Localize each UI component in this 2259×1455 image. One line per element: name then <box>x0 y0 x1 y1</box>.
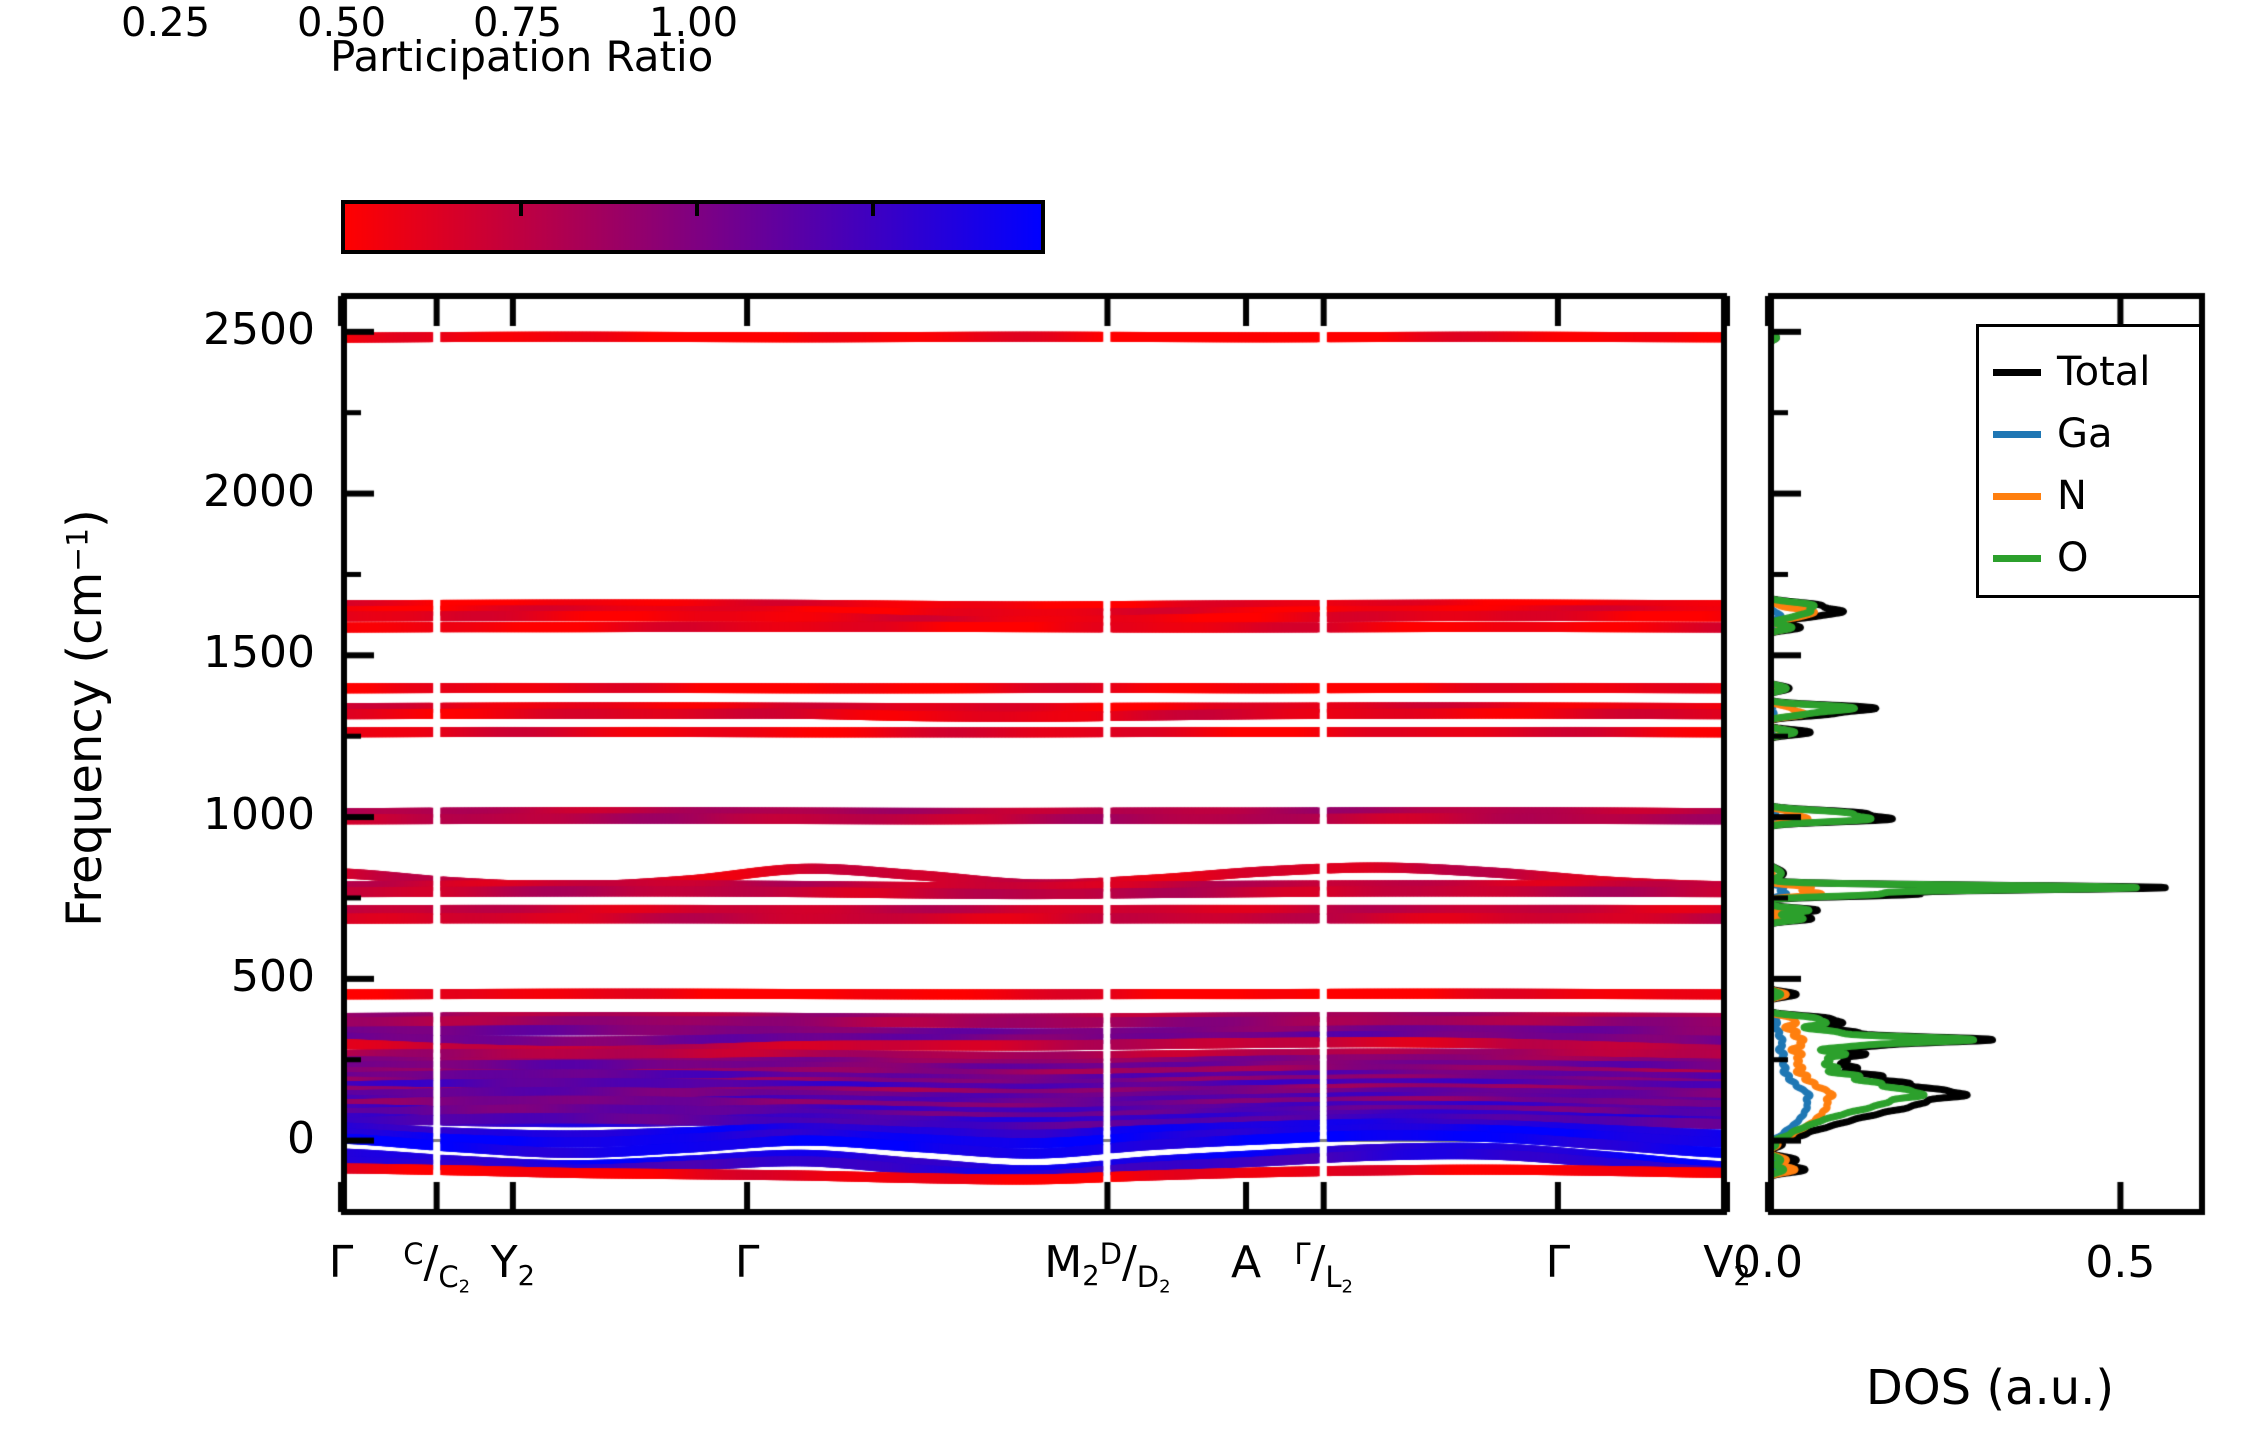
x-tick-2: Y2 <box>398 1237 628 1292</box>
legend-label-ga: Ga <box>2057 414 2113 454</box>
dos-tick-0-5: 0.5 <box>2030 1237 2210 1288</box>
colorbar-tick-0-25: 0.25 <box>121 0 210 46</box>
colorbar-tick-0-50: 0.50 <box>297 0 386 46</box>
colorbar-tick-mark <box>871 204 875 216</box>
legend-item-n: N <box>1979 465 2199 527</box>
participation-ratio-colorbar <box>341 200 1045 254</box>
legend-swatch-n <box>1993 493 2041 500</box>
legend-item-ga: Ga <box>1979 403 2199 465</box>
dos-x-axis-label: DOS (a.u.) <box>1770 1360 2210 1416</box>
legend-item-total: Total <box>1979 341 2199 403</box>
y-tick-1000: 1000 <box>85 789 315 840</box>
colorbar-tick-mark <box>695 204 699 216</box>
legend-swatch-ga <box>1993 431 2041 438</box>
colorbar-tick-0-75: 0.75 <box>473 0 562 46</box>
legend-swatch-o <box>1993 555 2041 562</box>
x-tick-6: Γ/L2 <box>1209 1237 1439 1298</box>
y-tick-2500: 2500 <box>85 304 315 355</box>
y-tick-2000: 2000 <box>85 466 315 517</box>
y-tick-1500: 1500 <box>85 627 315 678</box>
legend-label-o: O <box>2057 538 2088 578</box>
y-tick-0: 0 <box>85 1113 315 1164</box>
legend-item-o: O <box>1979 527 2199 589</box>
x-tick-3: Γ <box>632 1237 862 1288</box>
colorbar-tick-mark <box>519 204 523 216</box>
y-tick-500: 500 <box>85 951 315 1002</box>
legend-label-total: Total <box>2057 352 2150 392</box>
dos-legend: Total Ga N O <box>1976 324 2202 598</box>
colorbar-tick-1-00: 1.00 <box>649 0 738 46</box>
dos-tick-0-0: 0.0 <box>1678 1237 1858 1288</box>
legend-label-n: N <box>2057 476 2087 516</box>
legend-swatch-total <box>1993 369 2041 376</box>
